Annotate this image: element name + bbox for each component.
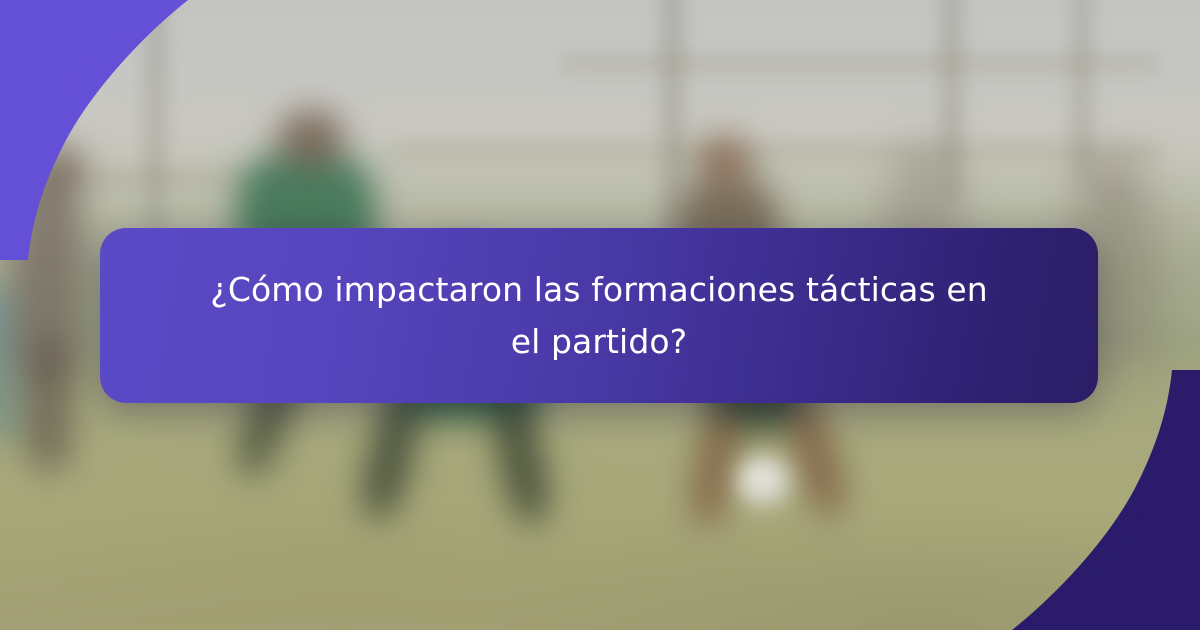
- question-title: ¿Cómo impactaron las formaciones táctica…: [204, 264, 994, 368]
- soccer-ball: [736, 456, 792, 506]
- player-silhouette-sideline-legs: [26, 340, 72, 470]
- player-silhouette-center-leg-right: [487, 389, 556, 527]
- player-silhouette-sideline-body: [12, 165, 84, 380]
- fence-post-far: [1072, 0, 1092, 180]
- player-silhouette-right-leg-right: [782, 397, 851, 521]
- goal-post-center: [660, 0, 686, 250]
- share-card-canvas: ¿Cómo impactaron las formaciones táctica…: [0, 0, 1200, 630]
- player-silhouette-edge-head: [1090, 156, 1134, 200]
- player-silhouette-green-head: [278, 110, 344, 168]
- goal-crossbar-upper: [560, 56, 1160, 72]
- goal-post-left: [145, 0, 167, 240]
- goal-crossbar-lower: [390, 144, 1160, 157]
- player-silhouette-right-head: [696, 136, 752, 188]
- background-pitch-tint: [0, 386, 1200, 630]
- player-silhouette-sideline-head: [38, 145, 84, 193]
- player-silhouette-far-head: [900, 148, 946, 192]
- player-silhouette-right-leg-left: [686, 404, 744, 529]
- player-silhouette-center-leg-left: [355, 387, 427, 523]
- fence-rail-left: [0, 172, 260, 184]
- question-card: ¿Cómo impactaron las formaciones táctica…: [100, 228, 1098, 403]
- goal-post-right: [940, 0, 964, 200]
- sideline-banner: [0, 290, 26, 440]
